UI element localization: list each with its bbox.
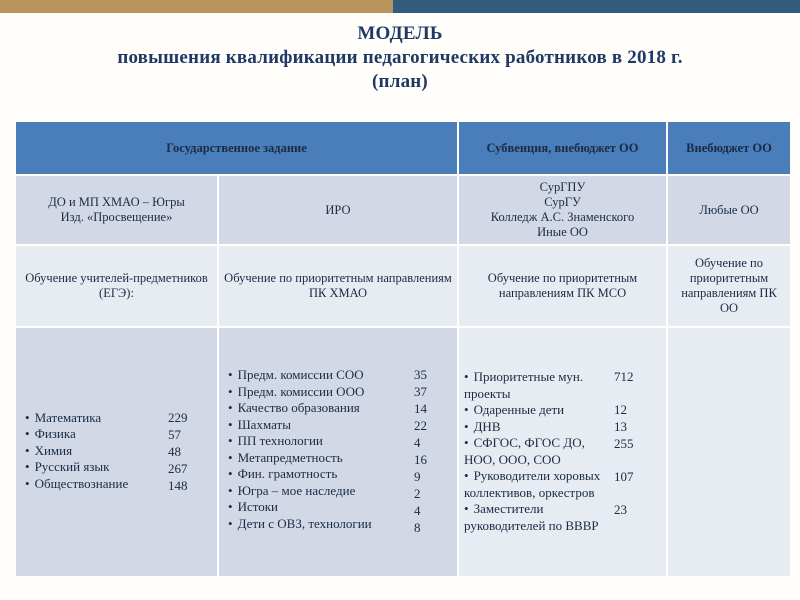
page-title: МОДЕЛЬ повышения квалификации педагогиче… bbox=[0, 22, 800, 94]
list-item: Фин. грамотность bbox=[228, 466, 414, 483]
list-item: Обществознание bbox=[25, 476, 168, 493]
topbar-left-band bbox=[0, 0, 393, 13]
list-item-value: 148 bbox=[168, 478, 212, 495]
list-item: СФГОС, ФГОС ДО, НОО, ООО, СОО bbox=[464, 435, 614, 468]
list-item-value: 13 bbox=[614, 419, 654, 436]
list-item-value: 4 bbox=[414, 435, 452, 452]
list-item: Дети с ОВЗ, технологии bbox=[228, 516, 414, 533]
list-item-value: 2 bbox=[414, 486, 452, 503]
list-item: Физика bbox=[25, 426, 168, 443]
list-item: Истоки bbox=[228, 499, 414, 516]
list-values-column-1: 2295748267148 bbox=[168, 410, 212, 495]
table-row-details: МатематикаФизикаХимияРусский языкОбществ… bbox=[16, 328, 790, 576]
cell-list-column-4 bbox=[668, 328, 790, 576]
cell-list-column-2: Предм. комиссии СООПредм. комиссии ОООКа… bbox=[219, 328, 457, 576]
title-line-1: МОДЕЛЬ bbox=[0, 22, 800, 46]
list-item-value: 229 bbox=[168, 410, 212, 427]
header-cell-extrabudget: Внебюджет ОО bbox=[668, 122, 790, 174]
list-item-value: 255 bbox=[614, 436, 654, 469]
cell-list-column-1: МатематикаФизикаХимияРусский языкОбществ… bbox=[16, 328, 217, 576]
list-item-value: 35 bbox=[414, 367, 452, 384]
list-item: ПП технологии bbox=[228, 433, 414, 450]
cell-direction-2: Обучение по приоритетным направлениям ПК… bbox=[219, 246, 457, 326]
cell-org-3: СурГПУ СурГУ Колледж А.С. Знаменского Ин… bbox=[459, 176, 666, 244]
list-item-value: 16 bbox=[414, 452, 452, 469]
list-item-value: 8 bbox=[414, 520, 452, 537]
model-table: Государственное задание Субвенция, внебю… bbox=[14, 120, 792, 578]
list-item-value: 12 bbox=[614, 402, 654, 419]
decorative-top-bar bbox=[0, 0, 800, 13]
list-item: Метапредметность bbox=[228, 450, 414, 467]
list-item: Заместители руководителей по ВВВР bbox=[464, 501, 614, 534]
list-item: Качество образования bbox=[228, 400, 414, 417]
list-item: Руководители хоровых коллективов, оркест… bbox=[464, 468, 614, 501]
title-line-3: (план) bbox=[0, 70, 800, 94]
list-item: Химия bbox=[25, 443, 168, 460]
cell-org-2: ИРО bbox=[219, 176, 457, 244]
table-row-directions: Обучение учителей-предметников (ЕГЭ): Об… bbox=[16, 246, 790, 326]
list-item: Шахматы bbox=[228, 417, 414, 434]
header-cell-state-task: Государственное задание bbox=[16, 122, 457, 174]
list-item-value: 4 bbox=[414, 503, 452, 520]
list-item-value: 712 bbox=[614, 369, 654, 402]
list-item: Югра – мое наследие bbox=[228, 483, 414, 500]
list-item-value: 48 bbox=[168, 444, 212, 461]
list-item-value: 9 bbox=[414, 469, 452, 486]
cell-direction-1: Обучение учителей-предметников (ЕГЭ): bbox=[16, 246, 217, 326]
list-labels-column-2: Предм. комиссии СООПредм. комиссии ОООКа… bbox=[224, 367, 414, 537]
cell-direction-4: Обучение по приоритетным направлениям ПК… bbox=[668, 246, 790, 326]
list-item: Русский язык bbox=[25, 459, 168, 476]
cell-list-column-3: Приоритетные мун. проектыОдаренные детиД… bbox=[459, 328, 666, 576]
list-item-value: 267 bbox=[168, 461, 212, 478]
title-line-2: повышения квалификации педагогических ра… bbox=[0, 46, 800, 70]
list-labels-column-3: Приоритетные мун. проектыОдаренные детиД… bbox=[464, 369, 614, 535]
list-item: Приоритетные мун. проекты bbox=[464, 369, 614, 402]
list-item: ДНВ bbox=[464, 419, 614, 436]
list-item: Предм. комиссии СОО bbox=[228, 367, 414, 384]
list-item-value: 14 bbox=[414, 401, 452, 418]
list-item: Предм. комиссии ООО bbox=[228, 384, 414, 401]
list-item-value: 37 bbox=[414, 384, 452, 401]
cell-direction-3: Обучение по приоритетным направлениям ПК… bbox=[459, 246, 666, 326]
cell-org-4: Любые ОО bbox=[668, 176, 790, 244]
list-values-column-2: 353714224169248 bbox=[414, 367, 452, 537]
list-item: Математика bbox=[25, 410, 168, 427]
list-item-value: 107 bbox=[614, 469, 654, 502]
list-item-value: 57 bbox=[168, 427, 212, 444]
list-values-column-3: 712121325510723 bbox=[614, 369, 654, 535]
table-row-organizations: ДО и МП ХМАО – Югры Изд. «Просвещение» И… bbox=[16, 176, 790, 244]
header-cell-subvention: Субвенция, внебюджет ОО bbox=[459, 122, 666, 174]
topbar-right-band bbox=[393, 0, 800, 13]
cell-org-1: ДО и МП ХМАО – Югры Изд. «Просвещение» bbox=[16, 176, 217, 244]
list-item-value: 22 bbox=[414, 418, 452, 435]
list-labels-column-1: МатематикаФизикаХимияРусский языкОбществ… bbox=[21, 410, 168, 495]
list-item-value: 23 bbox=[614, 502, 654, 535]
list-item: Одаренные дети bbox=[464, 402, 614, 419]
table-header-row: Государственное задание Субвенция, внебю… bbox=[16, 122, 790, 174]
